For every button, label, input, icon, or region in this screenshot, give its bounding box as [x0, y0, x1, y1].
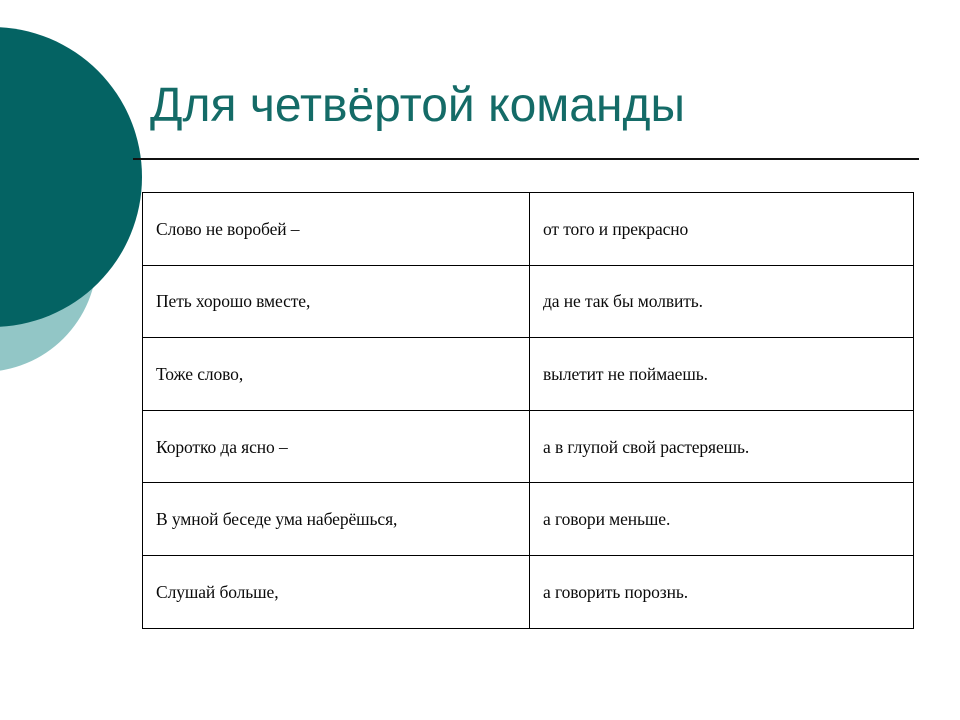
phrase-start-cell: Слушай больше,: [143, 555, 530, 628]
decorative-circle-dark: [0, 27, 142, 327]
decorative-circle-light: [0, 143, 97, 372]
phrase-start-cell: Петь хорошо вместе,: [143, 265, 530, 338]
table-row: Петь хорошо вместе, да не так бы молвить…: [143, 265, 914, 338]
table-row: В умной беседе ума наберёшься, а говори …: [143, 483, 914, 556]
slide-canvas: Для четвёртой команды Слово не воробей –…: [0, 0, 960, 720]
phrase-end-cell: от того и прекрасно: [530, 193, 914, 266]
table-body: Слово не воробей – от того и прекрасно П…: [143, 193, 914, 629]
phrase-start-cell: Тоже слово,: [143, 338, 530, 411]
phrase-match-table: Слово не воробей – от того и прекрасно П…: [142, 192, 914, 629]
phrase-start-cell: Слово не воробей –: [143, 193, 530, 266]
phrase-start-cell: В умной беседе ума наберёшься,: [143, 483, 530, 556]
phrase-end-cell: вылетит не поймаешь.: [530, 338, 914, 411]
phrase-end-cell: а говорить порознь.: [530, 555, 914, 628]
phrase-end-cell: а в глупой свой растеряешь.: [530, 410, 914, 483]
title-divider-rule: [133, 158, 919, 160]
phrase-end-cell: да не так бы молвить.: [530, 265, 914, 338]
phrase-start-cell: Коротко да ясно –: [143, 410, 530, 483]
table-row: Слушай больше, а говорить порознь.: [143, 555, 914, 628]
page-title: Для четвёртой команды: [150, 80, 930, 132]
table-row: Слово не воробей – от того и прекрасно: [143, 193, 914, 266]
table-row: Тоже слово, вылетит не поймаешь.: [143, 338, 914, 411]
phrase-end-cell: а говори меньше.: [530, 483, 914, 556]
table-row: Коротко да ясно – а в глупой свой растер…: [143, 410, 914, 483]
